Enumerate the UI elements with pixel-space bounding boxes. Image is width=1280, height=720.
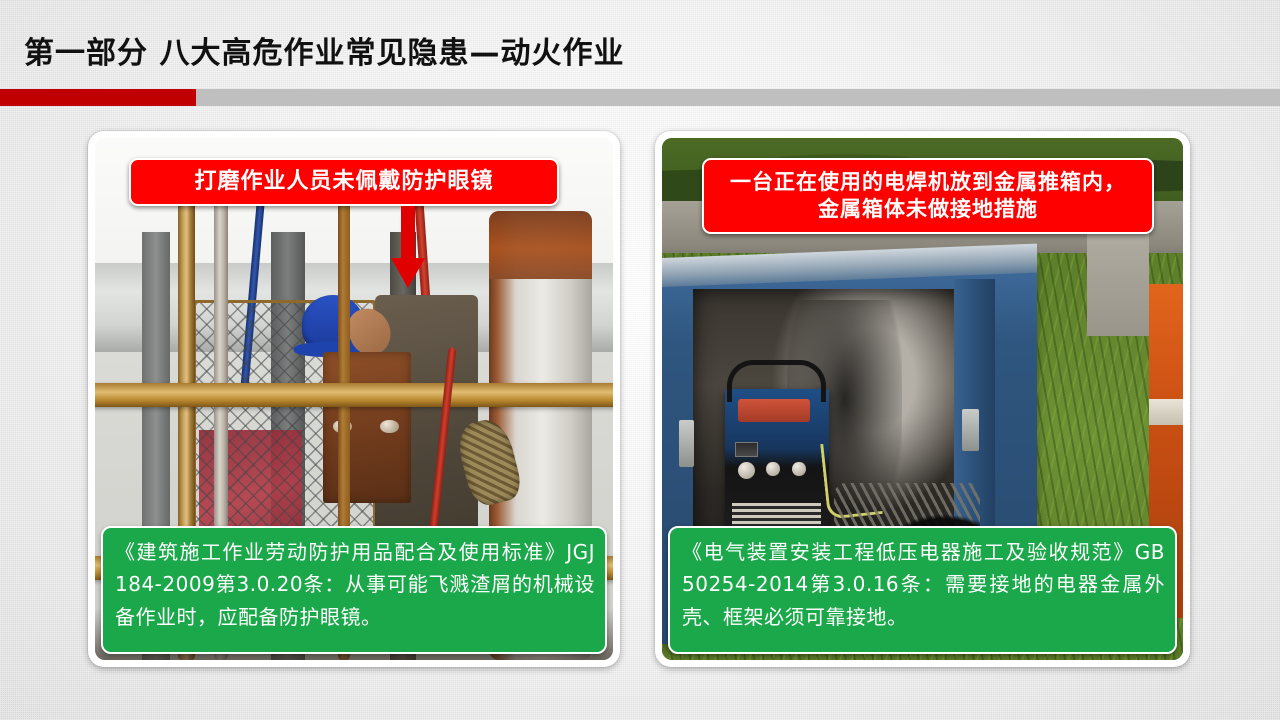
vertical-pipe-rust-band: [489, 211, 593, 279]
card-right[interactable]: 一台正在使用的电焊机放到金属推箱内， 金属箱体未做接地措施 《电气装置安装工程低…: [655, 131, 1190, 667]
welder-knob-3: [792, 462, 806, 477]
down-arrow-icon: [391, 206, 425, 290]
welder-red-stripe: [738, 399, 811, 422]
page-title: 第一部分 八大高危作业常见隐患—动火作业: [24, 28, 624, 72]
callout-banner-right-line1: 一台正在使用的电焊机放到金属推箱内，: [730, 169, 1126, 196]
card-right-inner: 一台正在使用的电焊机放到金属推箱内， 金属箱体未做接地措施 《电气装置安装工程低…: [662, 138, 1183, 660]
callout-banner-right-lines: 一台正在使用的电焊机放到金属推箱内， 金属箱体未做接地措施: [730, 169, 1126, 223]
arrow-head: [391, 258, 425, 288]
barrier-reflective-band: [1149, 399, 1183, 425]
slide-root: 第一部分 八大高危作业常见隐患—动火作业: [0, 0, 1280, 720]
header-rule-gray: [196, 89, 1280, 106]
caption-text-left: 《建筑施工作业劳动防护用品配合及使用标准》JGJ 184-2009第3.0.20…: [115, 536, 595, 633]
welder-handle: [727, 360, 826, 402]
caption-box-right: 《电气装置安装工程低压电器施工及验收规范》GB 50254-2014第3.0.1…: [668, 526, 1177, 654]
callout-banner-left: 打磨作业人员未佩戴防护眼镜: [129, 158, 559, 206]
door-latch: [962, 409, 980, 451]
header-rule-red: [0, 89, 196, 106]
callout-banner-right: 一台正在使用的电焊机放到金属推箱内， 金属箱体未做接地措施: [702, 158, 1154, 234]
scaffold-rail-1: [95, 383, 613, 407]
arrow-stem: [401, 206, 415, 262]
caption-box-left: 《建筑施工作业劳动防护用品配合及使用标准》JGJ 184-2009第3.0.20…: [101, 526, 607, 654]
caption-text-right: 《电气装置安装工程低压电器施工及验收规范》GB 50254-2014第3.0.1…: [682, 536, 1165, 633]
card-left[interactable]: 打磨作业人员未佩戴防护眼镜 《建筑施工作业劳动防护用品配合及使用标准》JGJ 1…: [88, 131, 620, 667]
door-hinge: [679, 420, 695, 467]
card-left-inner: 打磨作业人员未佩戴防护眼镜 《建筑施工作业劳动防护用品配合及使用标准》JGJ 1…: [95, 138, 613, 660]
bolt-3: [380, 420, 399, 434]
welder-knob-2: [766, 462, 780, 477]
welder-display: [735, 442, 758, 458]
callout-banner-right-line2: 金属箱体未做接地措施: [730, 196, 1126, 223]
